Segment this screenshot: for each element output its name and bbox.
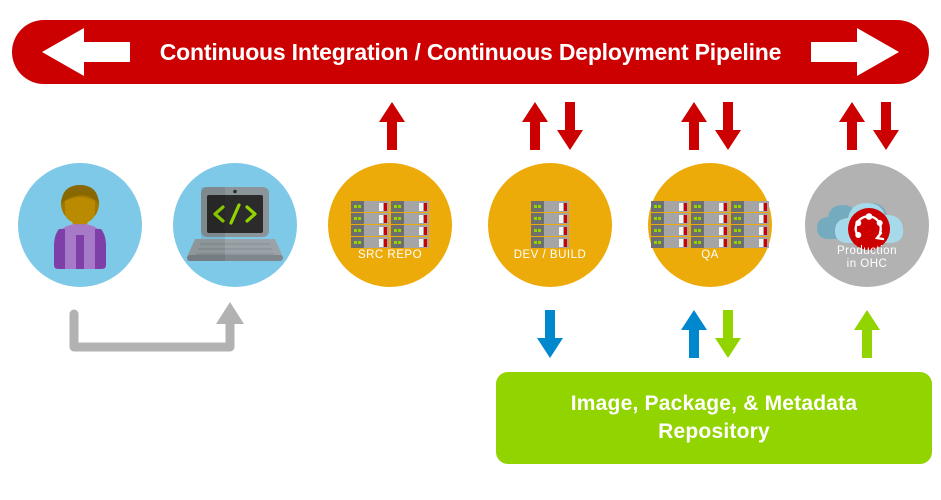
node-developer bbox=[18, 163, 142, 287]
bottom-arrow-up-production bbox=[853, 308, 881, 360]
node-label-production-line2: in OHC bbox=[805, 258, 929, 271]
node-workstation bbox=[173, 163, 297, 287]
server-rack-icon-dev-build bbox=[531, 201, 569, 248]
rack-column bbox=[731, 201, 769, 248]
node-label-qa: QA bbox=[648, 249, 772, 262]
rack-column bbox=[391, 201, 429, 248]
top-arrow-up-dev-build bbox=[521, 100, 549, 152]
laptop-code-icon bbox=[185, 181, 285, 269]
top-arrow-up-src-repo bbox=[378, 100, 406, 152]
rack-column bbox=[351, 201, 389, 248]
node-src-repo: SRC REPO bbox=[328, 163, 452, 287]
repository-box: Image, Package, & Metadata Repository bbox=[496, 372, 932, 464]
bottom-arrow-up-qa bbox=[680, 308, 708, 360]
repository-label-line2: Repository bbox=[571, 418, 858, 446]
top-arrow-down-production bbox=[872, 100, 900, 152]
node-dev-build: DEV / BUILD bbox=[488, 163, 612, 287]
repository-label: Image, Package, & Metadata Repository bbox=[571, 390, 858, 446]
node-label-production-line1: Production bbox=[805, 245, 929, 258]
rack-column bbox=[651, 201, 689, 248]
rack-column bbox=[691, 201, 729, 248]
bottom-arrow-down-dev-build bbox=[536, 308, 564, 360]
top-arrow-down-dev-build bbox=[556, 100, 584, 152]
top-arrow-down-qa bbox=[714, 100, 742, 152]
node-label-production: Production in OHC bbox=[805, 245, 929, 271]
node-production: Production in OHC bbox=[805, 163, 929, 287]
arrow-left-icon bbox=[40, 26, 132, 78]
rack-column bbox=[531, 201, 569, 248]
person-avatar-icon bbox=[32, 177, 128, 273]
node-label-src-repo: SRC REPO bbox=[328, 249, 452, 262]
server-rack-icon-src-repo bbox=[351, 201, 429, 248]
repository-label-line1: Image, Package, & Metadata bbox=[571, 390, 858, 418]
node-label-dev-build: DEV / BUILD bbox=[488, 249, 612, 262]
pipeline-banner: Continuous Integration / Continuous Depl… bbox=[12, 20, 929, 84]
node-qa: QA bbox=[648, 163, 772, 287]
elbow-arrow-icon bbox=[60, 300, 260, 360]
top-arrow-up-qa bbox=[680, 100, 708, 152]
pipeline-title: Continuous Integration / Continuous Depl… bbox=[160, 41, 782, 64]
bottom-arrow-down-qa bbox=[714, 308, 742, 360]
arrow-right-icon bbox=[809, 26, 901, 78]
server-rack-icon-qa bbox=[651, 201, 769, 248]
top-arrow-up-production bbox=[838, 100, 866, 152]
cicd-pipeline-diagram: Continuous Integration / Continuous Depl… bbox=[0, 0, 941, 500]
